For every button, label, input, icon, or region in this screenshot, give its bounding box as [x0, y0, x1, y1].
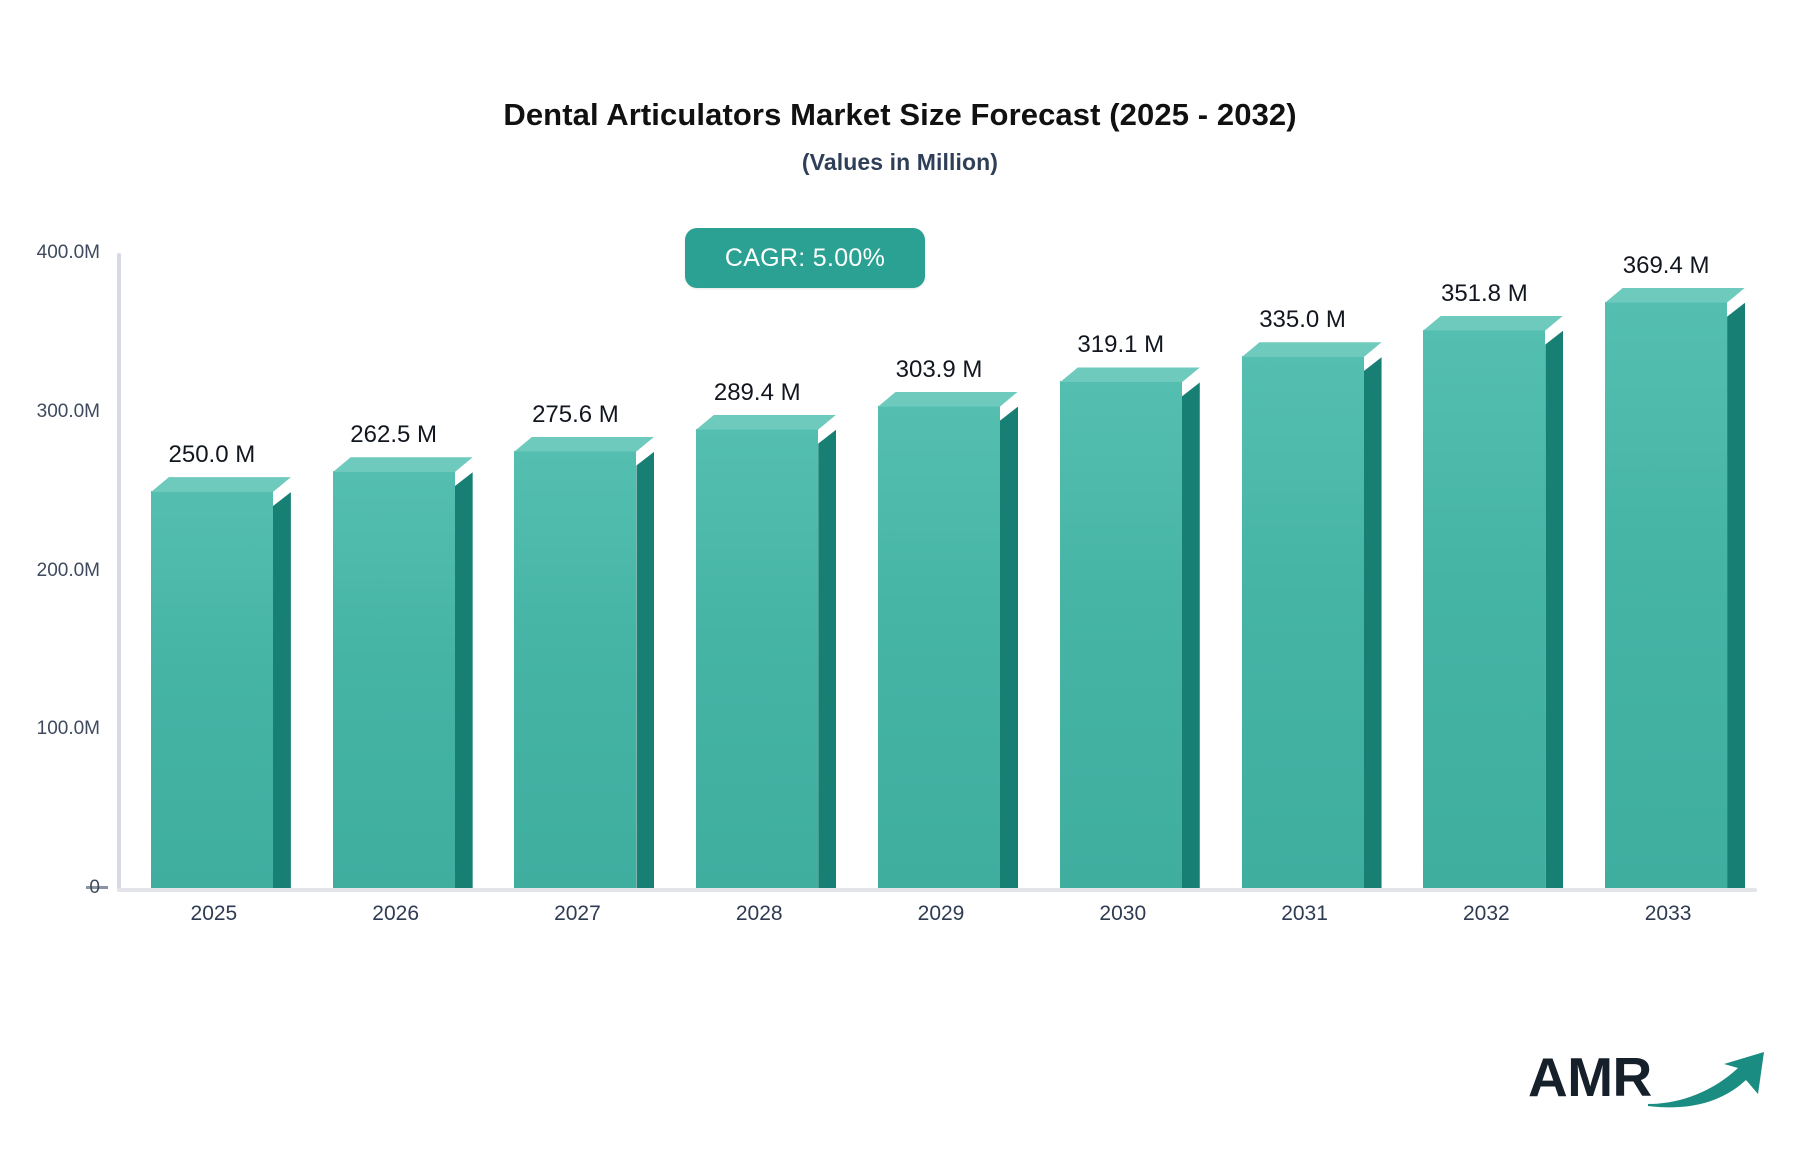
- bar-front-face: [514, 451, 636, 889]
- bar-value-label: 369.4 M: [1623, 252, 1710, 280]
- x-axis-tick-label: 2030: [1099, 902, 1146, 926]
- bar-value-label: 275.6 M: [532, 401, 619, 429]
- bar-front-face: [151, 491, 273, 888]
- bar-front-face: [1423, 330, 1545, 888]
- y-axis-line: [117, 253, 121, 890]
- bar-front-face: [696, 429, 818, 888]
- bar-side-face: [818, 430, 836, 888]
- bar: 303.9 M: [878, 406, 1000, 888]
- bar: 369.4 M: [1605, 302, 1727, 888]
- x-axis-tick-label: 2026: [372, 902, 419, 926]
- bar-side-face: [455, 472, 473, 888]
- bar-top-face: [151, 477, 291, 492]
- bar-value-label: 250.0 M: [169, 441, 256, 469]
- x-axis-tick-label: 2028: [736, 902, 783, 926]
- y-axis-tick-label: 300.0M: [0, 401, 100, 423]
- x-axis-tick-label: 2033: [1645, 902, 1692, 926]
- bar-front-face: [878, 406, 1000, 888]
- y-axis-tick-label: 400.0M: [0, 242, 100, 264]
- bar-top-face: [333, 457, 473, 472]
- bar-front-face: [1605, 302, 1727, 888]
- bar: 351.8 M: [1423, 330, 1545, 888]
- x-axis-tick-label: 2032: [1463, 902, 1510, 926]
- bar: 319.1 M: [1060, 381, 1182, 888]
- bar-side-face: [1364, 357, 1382, 888]
- bar-side-face: [1182, 382, 1200, 888]
- bar-side-face: [1545, 331, 1563, 888]
- bar-value-label: 351.8 M: [1441, 280, 1528, 308]
- amr-logo-text: AMR: [1528, 1050, 1652, 1105]
- bar-value-label: 319.1 M: [1077, 331, 1164, 359]
- bar-top-face: [514, 437, 654, 452]
- bar-value-label: 335.0 M: [1259, 306, 1346, 334]
- bar-front-face: [1060, 381, 1182, 888]
- y-axis-tick-label: 200.0M: [0, 560, 100, 582]
- y-axis-tick-label: 100.0M: [0, 718, 100, 740]
- bar-top-face: [878, 392, 1018, 407]
- bar-side-face: [636, 452, 654, 889]
- growth-arrow-icon: [1646, 1048, 1776, 1115]
- bar: 289.4 M: [696, 429, 818, 888]
- bar-front-face: [333, 471, 455, 888]
- bar: 335.0 M: [1242, 356, 1364, 888]
- bar-top-face: [1605, 288, 1745, 303]
- bar-side-face: [273, 492, 291, 888]
- bar-top-face: [696, 415, 836, 430]
- x-axis-line: [117, 888, 1757, 892]
- bar: 275.6 M: [514, 451, 636, 889]
- chart-canvas: Dental Articulators Market Size Forecast…: [0, 0, 1800, 1156]
- bar-side-face: [1000, 407, 1018, 888]
- bar-front-face: [1242, 356, 1364, 888]
- bar: 250.0 M: [151, 491, 273, 888]
- y-axis-tick-label: 0: [0, 877, 100, 899]
- x-axis-tick-label: 2025: [191, 902, 238, 926]
- bar-top-face: [1060, 367, 1200, 382]
- bar-top-face: [1423, 316, 1563, 331]
- amr-logo: AMR: [1528, 1040, 1776, 1115]
- bar-top-face: [1242, 342, 1382, 357]
- plot-area: 0100.0M200.0M300.0M400.0M 250.0 M262.5 M…: [0, 0, 1800, 1156]
- bar-value-label: 262.5 M: [350, 421, 437, 449]
- x-axis-tick-label: 2027: [554, 902, 601, 926]
- bar-side-face: [1727, 303, 1745, 888]
- x-axis-tick-label: 2031: [1281, 902, 1328, 926]
- bar: 262.5 M: [333, 471, 455, 888]
- bar-value-label: 289.4 M: [714, 379, 801, 407]
- x-axis-tick-label: 2029: [918, 902, 965, 926]
- bar-value-label: 303.9 M: [896, 356, 983, 384]
